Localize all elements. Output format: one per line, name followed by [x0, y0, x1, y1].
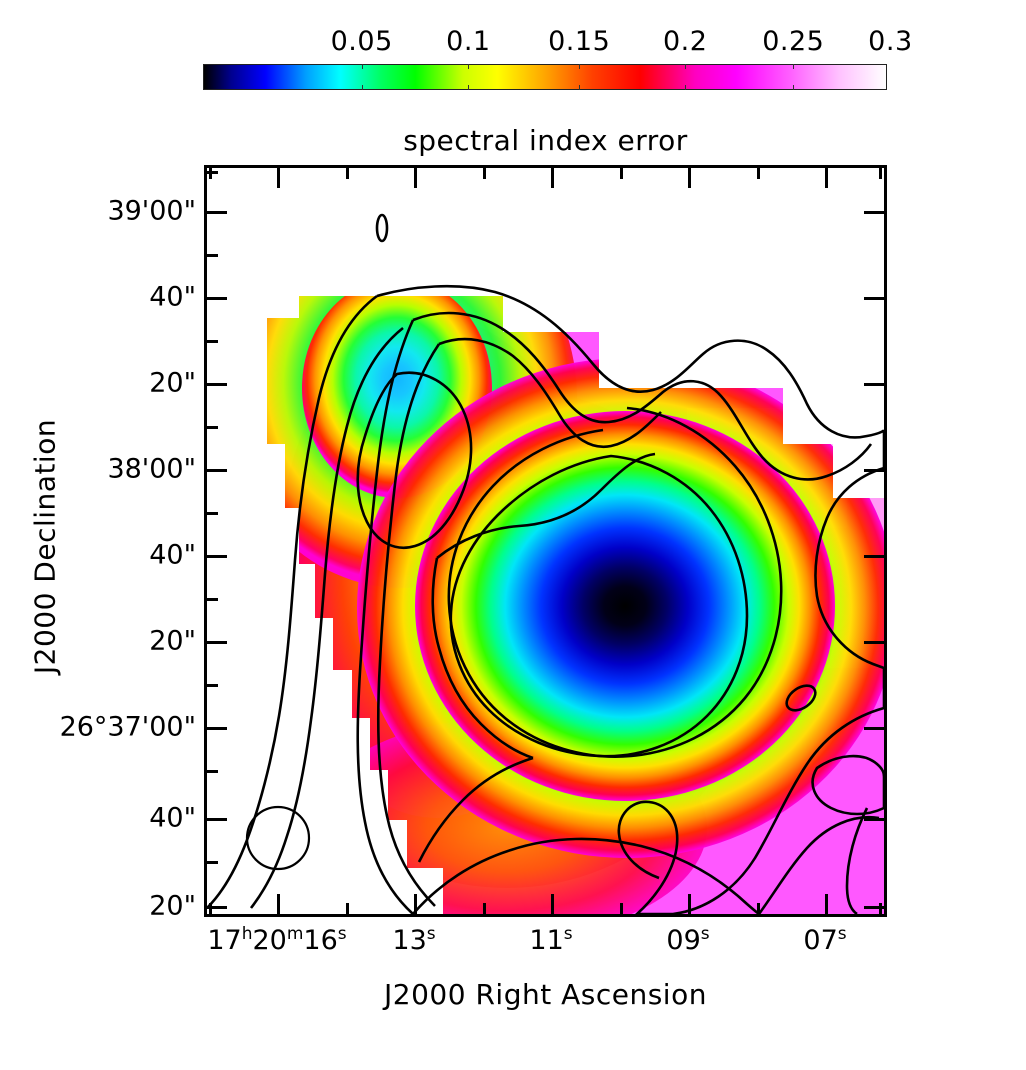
sky-image-canvas: [207, 168, 884, 914]
colorbar-tick-label: 0.15: [548, 26, 610, 57]
colorbar-ticks: [203, 64, 887, 90]
x-tick-label: 11s: [529, 924, 572, 956]
x-axis-tick-labels: 17h20m16s 13s 11s 09s 07s: [204, 924, 887, 968]
radio-spectral-index-image: [207, 168, 884, 914]
x-tick-label: 17h20m16s: [207, 924, 346, 956]
colorbar-tick-label: 0.1: [446, 26, 490, 57]
astronomical-figure: 0.05 0.1 0.15 0.2 0.25 0.3 spectral inde…: [0, 0, 1026, 1070]
y-tick-label: 40": [149, 540, 196, 571]
plot-title: spectral index error: [204, 124, 887, 157]
image-plot-area[interactable]: [204, 165, 887, 917]
y-axis-title: J2000 Declination: [29, 197, 62, 897]
colorbar-tick-label: 0.25: [762, 26, 824, 57]
colorbar-tick-label: 0.05: [331, 26, 393, 57]
y-tick-label: 20": [149, 626, 196, 657]
y-tick-label: 20": [149, 368, 196, 399]
colorbar-tick-label: 0.2: [663, 26, 707, 57]
y-tick-label: 40": [149, 803, 196, 834]
x-tick-label: 13s: [392, 924, 435, 956]
x-tick-label: 09s: [666, 924, 709, 956]
y-tick-label: 26°37'00": [60, 712, 196, 743]
x-tick-label: 07s: [803, 924, 846, 956]
x-axis-title: J2000 Right Ascension: [204, 978, 887, 1011]
y-tick-label: 39'00": [107, 196, 196, 227]
y-tick-label: 38'00": [107, 454, 196, 485]
colorbar-tick-labels: 0.05 0.1 0.15 0.2 0.25 0.3: [203, 26, 887, 64]
y-tick-label: 40": [149, 282, 196, 313]
y-tick-label: 20": [149, 891, 196, 922]
colorbar-tick-label: 0.3: [868, 26, 912, 57]
